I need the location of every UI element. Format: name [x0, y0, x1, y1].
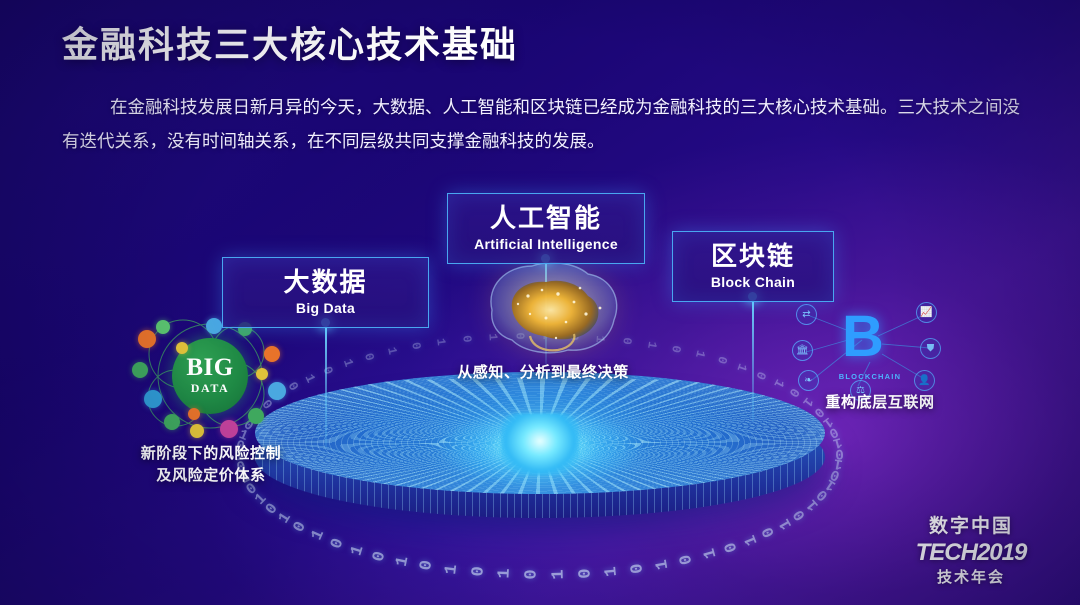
big-data-node-icon: [188, 408, 200, 420]
binary-digit: 1: [347, 543, 368, 558]
caption-block-chain-line1: 重构底层互联网: [795, 392, 965, 414]
binary-digit: 1: [442, 563, 462, 575]
connector-stem-big-data: [325, 322, 327, 448]
binary-digit: 1: [644, 340, 659, 349]
bitcoin-b-glyph: B: [842, 308, 898, 370]
pillar-title-ai: 人工智能: [464, 203, 628, 234]
big-data-node-icon: [256, 368, 268, 380]
caption-ai: 从感知、分析到最终决策: [418, 362, 668, 384]
block-chain-icon-label: BLOCKCHAIN: [830, 372, 910, 381]
pillar-subtitle-block-chain: Block Chain: [689, 274, 817, 290]
binary-digit: 0: [721, 540, 742, 555]
chain-node-exchange-icon: ⇄: [796, 304, 817, 325]
binary-digit: 1: [549, 569, 568, 580]
pillar-box-big-data[interactable]: 大数据 Big Data: [222, 257, 429, 328]
binary-digit: 0: [361, 351, 376, 362]
chain-node-leaf-icon: ❧: [798, 370, 819, 391]
logo-line-tech2019: TECH2019: [896, 539, 1046, 567]
big-data-node-icon: [164, 414, 180, 430]
big-data-node-icon: [220, 420, 238, 438]
page-title: 金融科技三大核心技术基础: [62, 16, 518, 68]
binary-digit: 0: [826, 423, 841, 441]
pillar-box-artificial-intelligence[interactable]: 人工智能 Artificial Intelligence: [447, 193, 645, 264]
binary-digit: 1: [392, 555, 413, 569]
binary-digit: 1: [831, 433, 843, 451]
big-data-node-icon: [156, 320, 170, 334]
brain-icon: [470, 252, 632, 364]
binary-digit: 0: [714, 355, 730, 366]
slide-canvas: 1010101010101010101010101010101010101010…: [0, 0, 1080, 605]
disc-core-beam: [501, 413, 579, 475]
chain-node-shield-icon: ⛊: [920, 338, 941, 359]
central-platform-disc: [255, 372, 825, 540]
logo-line-digital-china: 数字中国: [896, 511, 1046, 538]
binary-digit: 1: [692, 349, 707, 360]
caption-big-data: 新阶段下的风险控制 及风险定价体系: [108, 443, 314, 487]
caption-ai-line1: 从感知、分析到最终决策: [418, 362, 668, 384]
caption-big-data-line1: 新阶段下的风险控制: [108, 443, 314, 465]
binary-digit: 1: [433, 338, 448, 347]
big-data-node-icon: [268, 382, 286, 400]
binary-digit: 0: [828, 465, 842, 483]
binary-digit: 0: [576, 567, 596, 578]
connector-stem-block-chain: [752, 296, 754, 422]
pillar-title-block-chain: 区块链: [689, 241, 817, 272]
binary-digit: 1: [833, 455, 845, 472]
big-data-node-icon: [176, 342, 188, 354]
binary-digit: 0: [369, 549, 390, 563]
big-data-node-icon: [264, 346, 280, 362]
big-data-node-icon: [190, 424, 204, 438]
chain-node-bank-icon: 🏛: [792, 340, 813, 361]
big-data-node-icon: [138, 330, 156, 348]
binary-digit: 1: [699, 546, 720, 561]
body-paragraph: 在金融科技发展日新月异的今天，大数据、人工智能和区块链已经成为金融科技的三大核心…: [62, 90, 1022, 158]
big-data-icon-cluster: BIG DATA: [128, 316, 288, 440]
binary-digit: 0: [835, 445, 844, 461]
binary-digit: 0: [469, 566, 489, 578]
caption-block-chain: 重构底层互联网: [795, 392, 965, 414]
big-data-node-icon: [248, 408, 264, 424]
event-logo: 数字中国 TECH2019 技术年会: [896, 511, 1046, 587]
binary-digit: 0: [628, 562, 648, 575]
chain-node-person-icon: 👤: [914, 370, 935, 391]
big-data-badge-subtitle: DATA: [191, 381, 230, 396]
caption-big-data-line2: 及风险定价体系: [108, 465, 314, 487]
binary-digit: 0: [417, 559, 437, 572]
block-chain-icon-cluster: B BLOCKCHAIN ⇄ 🏛 ❧ ⚖ 📈 ⛊ 👤: [792, 300, 944, 400]
pillar-title-big-data: 大数据: [239, 267, 412, 298]
pillar-subtitle-big-data: Big Data: [239, 300, 412, 316]
binary-digit: 0: [522, 569, 541, 579]
binary-digit: 1: [340, 357, 356, 369]
binary-digit: 1: [495, 568, 514, 579]
disc-top-surface: [255, 372, 825, 494]
big-data-node-icon: [206, 318, 222, 334]
binary-digit: 1: [602, 565, 622, 577]
logo-line-annual-meeting: 技术年会: [896, 566, 1046, 587]
binary-digit: 1: [653, 558, 673, 571]
binary-digit: 0: [408, 342, 423, 352]
chain-node-chart-icon: 📈: [916, 302, 937, 323]
binary-digit: 0: [668, 344, 683, 354]
pillar-subtitle-ai: Artificial Intelligence: [464, 236, 628, 252]
big-data-node-icon: [144, 390, 162, 408]
big-data-badge-title: BIG: [186, 356, 233, 380]
big-data-node-icon: [132, 362, 148, 378]
binary-digit: 0: [677, 552, 698, 566]
binary-digit: 1: [384, 346, 399, 356]
pillar-box-block-chain[interactable]: 区块链 Block Chain: [672, 231, 834, 302]
